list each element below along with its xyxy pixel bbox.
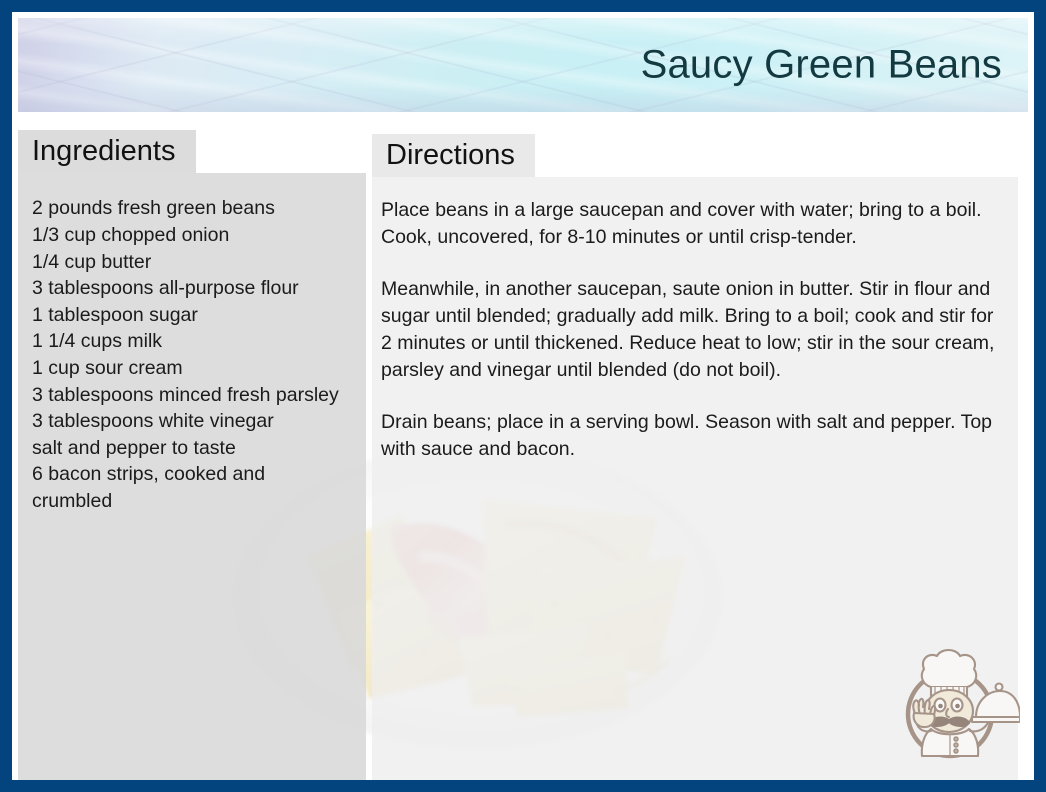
ingredient-item: 1 tablespoon sugar <box>32 302 350 329</box>
ingredients-section: Ingredients 2 pounds fresh green beans1/… <box>18 130 366 780</box>
ingredient-item: 1 cup sour cream <box>32 355 350 382</box>
ingredient-item: 3 tablespoons all-purpose flour <box>32 275 350 302</box>
ingredient-item: 1/4 cup butter <box>32 249 350 276</box>
ingredients-heading: Ingredients <box>18 130 196 173</box>
direction-step: Meanwhile, in another saucepan, saute on… <box>381 276 1004 384</box>
directions-steps: Place beans in a large saucepan and cove… <box>372 177 1018 781</box>
ingredient-item: 2 pounds fresh green beans <box>32 195 350 222</box>
ingredient-item: 1 1/4 cups milk <box>32 328 350 355</box>
ingredient-item: 6 bacon strips, cooked and crumbled <box>32 461 350 514</box>
ingredient-item: 3 tablespoons minced fresh parsley <box>32 382 350 409</box>
directions-section: Directions Place beans in a large saucep… <box>372 134 1018 780</box>
ingredient-item: salt and pepper to taste <box>32 435 350 462</box>
title-banner: Saucy Green Beans <box>18 18 1028 112</box>
directions-heading: Directions <box>372 134 535 177</box>
direction-step: Place beans in a large saucepan and cove… <box>381 197 1004 251</box>
recipe-card: Saucy Green Beans <box>0 0 1046 792</box>
page-title: Saucy Green Beans <box>641 43 1002 88</box>
ingredient-item: 1/3 cup chopped onion <box>32 222 350 249</box>
ingredients-list: 2 pounds fresh green beans1/3 cup choppe… <box>18 173 366 781</box>
ingredient-item: 3 tablespoons white vinegar <box>32 408 350 435</box>
direction-step: Drain beans; place in a serving bowl. Se… <box>381 409 1004 463</box>
